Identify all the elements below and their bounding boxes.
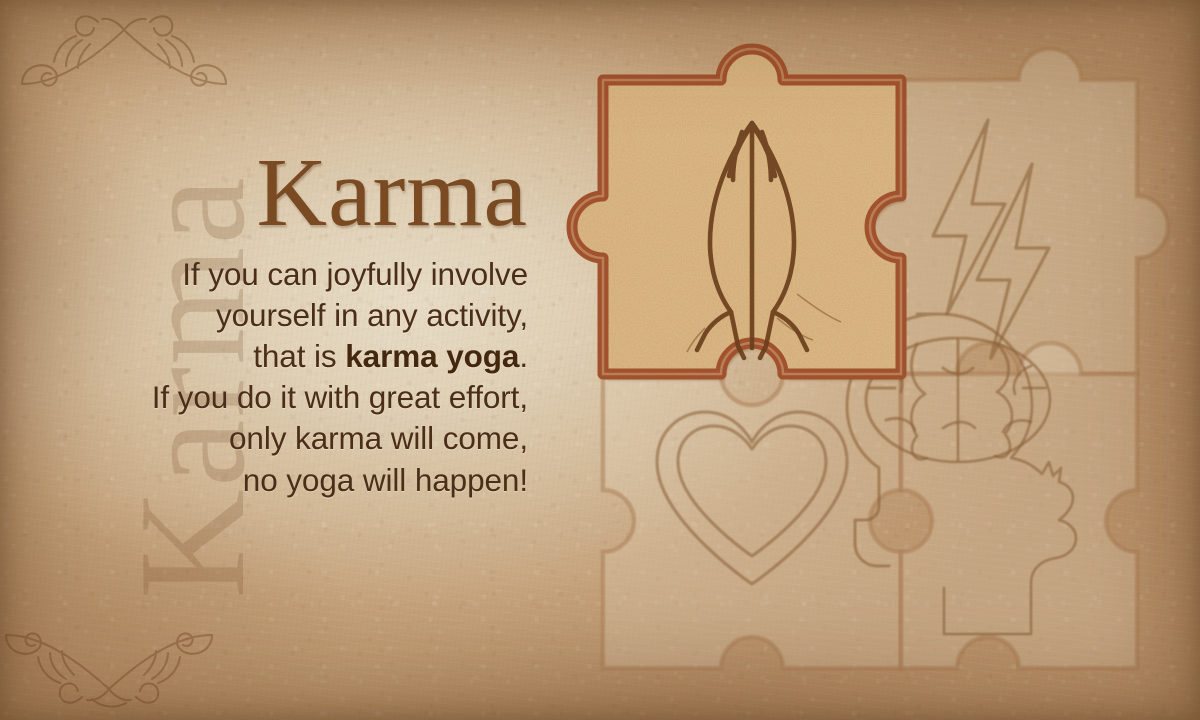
quote-bold-phrase: karma yoga xyxy=(345,338,519,374)
text-column: Karma If you can joyfully involve yourse… xyxy=(104,146,528,501)
puzzle-piece-top-left xyxy=(572,49,915,384)
quote-line: only karma will come, xyxy=(229,420,528,456)
puzzle-piece-top-right xyxy=(870,49,1168,374)
quote-line: If you can joyfully involve xyxy=(182,256,528,292)
quote-line: no yoga will happen! xyxy=(243,462,528,498)
quote-line: yourself in any activity, xyxy=(216,297,528,333)
quote-block: If you can joyfully involve yourself in … xyxy=(104,254,528,501)
jigsaw-puzzle xyxy=(545,28,1195,700)
page-title: Karma xyxy=(104,146,528,240)
poster-canvas: Karma Karma If you can joyfully involve … xyxy=(0,0,1200,720)
quote-line: If you do it with great effort, xyxy=(152,379,528,415)
quote-line-emphasis: that is karma yoga. xyxy=(253,338,528,374)
